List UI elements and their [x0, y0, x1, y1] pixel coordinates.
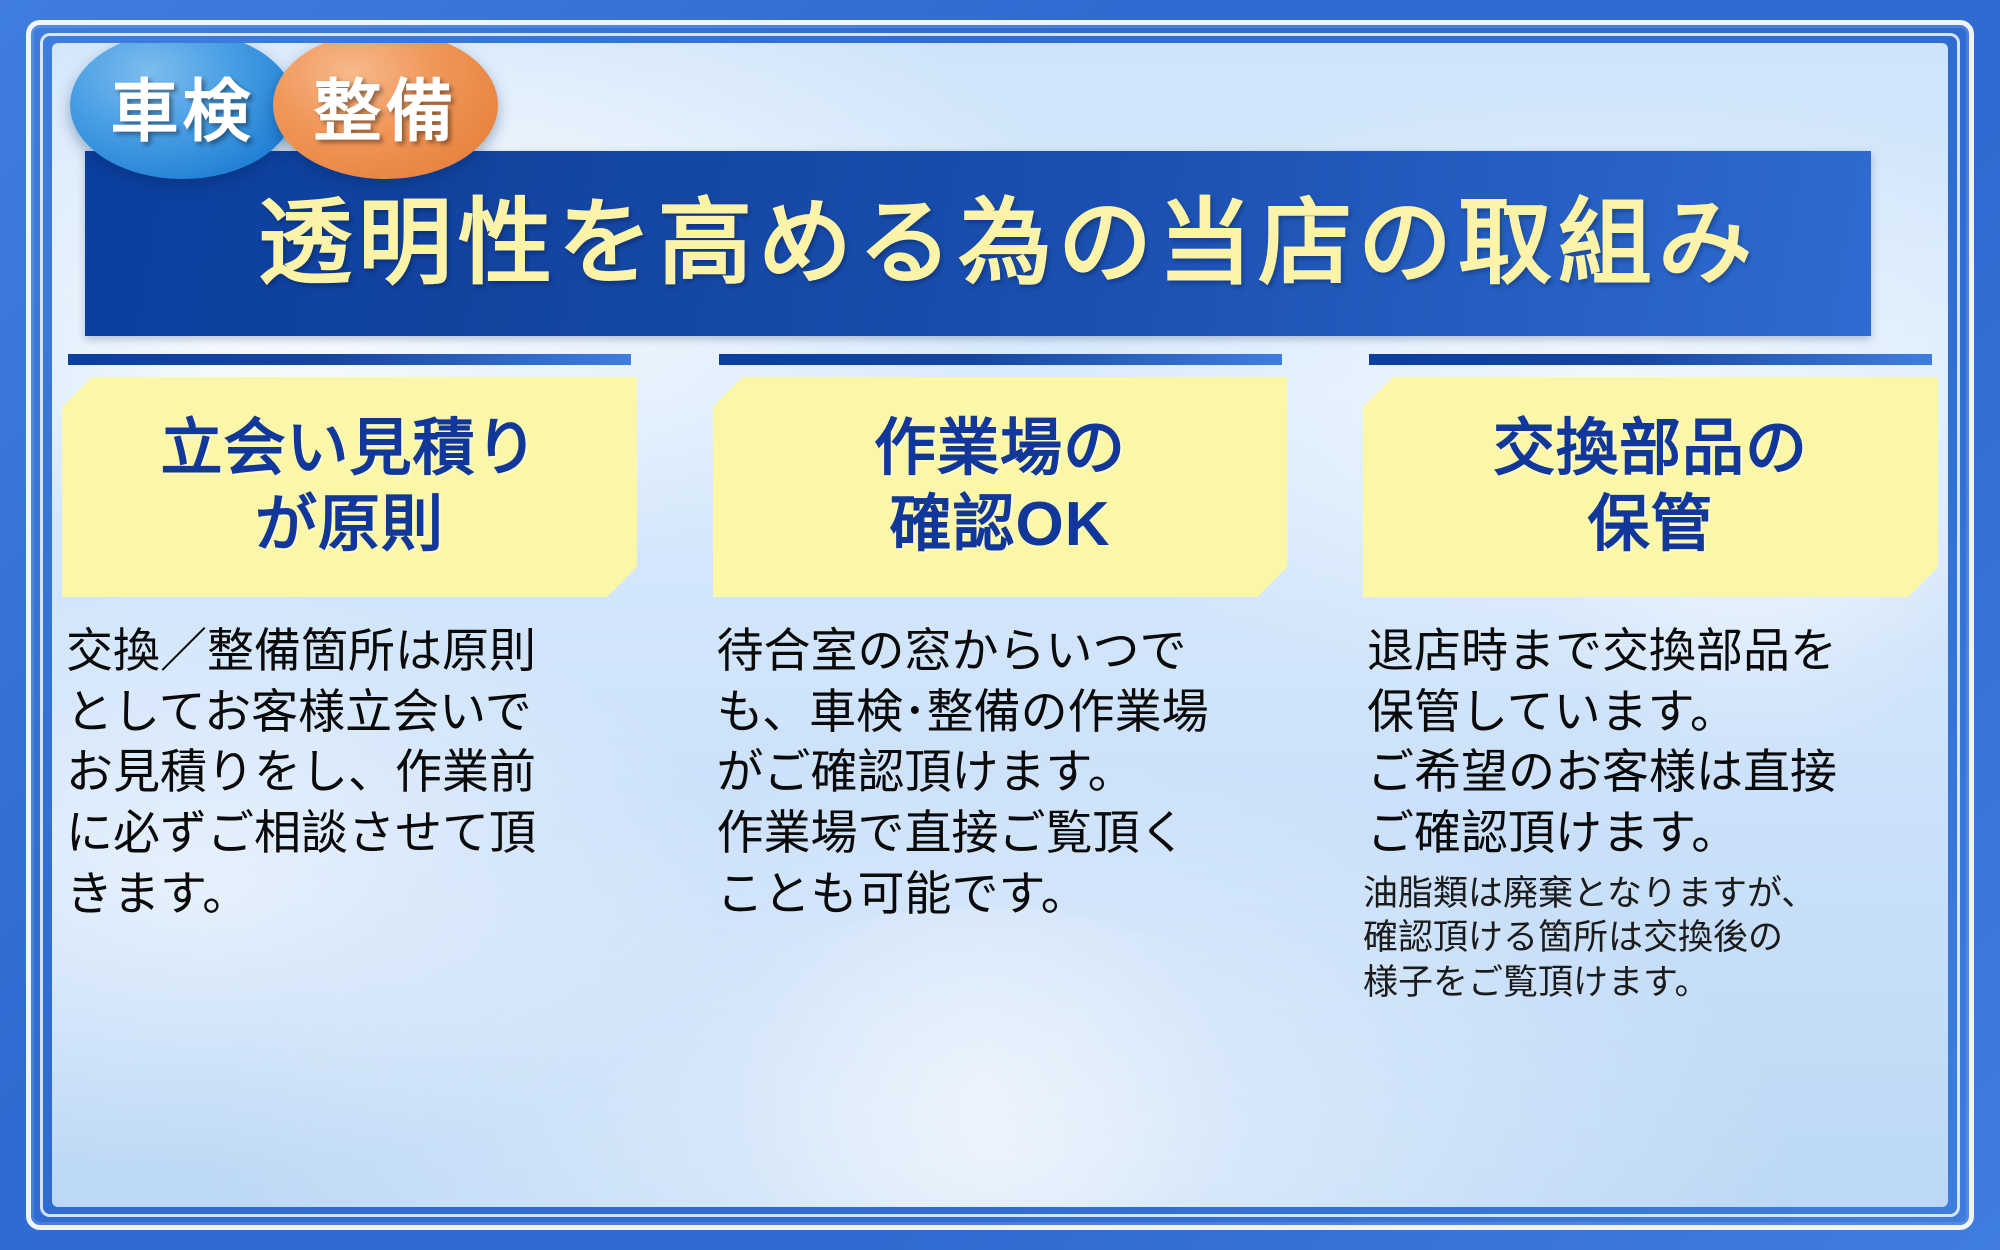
feature-heading-line: 作業場の: [874, 411, 1126, 487]
note-line: 油脂類は廃棄となりますが、: [1363, 872, 1938, 917]
feature-body-1: 交換／整備箇所は原則 としてお客様立会いで お見積りをし、作業前 に必ずご相談さ…: [62, 621, 637, 924]
feature-card-1: 立会い見積り が原則: [62, 377, 637, 597]
badge-group: 車検 整備: [70, 43, 498, 179]
body-line: がご確認頂けます。: [717, 742, 1286, 803]
body-line: としてお客様立会いで: [66, 682, 635, 743]
feature-column-3: 交換部品の 保管 退店時まで交換部品を 保管しています。 ご希望のお客様は直接 …: [1363, 343, 1938, 1207]
feature-body-3: 退店時まで交換部品を 保管しています。 ご希望のお客様は直接 ご確認頂けます。: [1363, 621, 1938, 864]
feature-heading-line: 確認OK: [889, 487, 1110, 563]
badge-seibi-label: 整備: [313, 56, 457, 155]
feature-heading-line: が原則: [255, 487, 444, 563]
feature-heading-line: 保管: [1587, 487, 1713, 563]
poster-root: 車検 整備 透明性を高める為の当店の取組み 立会い見積り が原則 交換／整備箇所…: [0, 0, 2000, 1250]
feature-card-2: 作業場の 確認OK: [713, 377, 1288, 597]
body-line: 保管しています。: [1367, 682, 1936, 743]
body-line: お見積りをし、作業前: [66, 742, 635, 803]
feature-card-3: 交換部品の 保管: [1363, 377, 1938, 597]
feature-heading-line: 交換部品の: [1493, 411, 1808, 487]
poster-canvas: 車検 整備 透明性を高める為の当店の取組み 立会い見積り が原則 交換／整備箇所…: [52, 43, 1948, 1207]
note-line: 様子をご覧頂けます。: [1363, 961, 1938, 1006]
page-title: 透明性を高める為の当店の取組み: [198, 197, 1758, 291]
body-line: ご希望のお客様は直接: [1367, 742, 1936, 803]
column-rule: [68, 354, 631, 365]
feature-heading-line: 立会い見積り: [160, 411, 538, 487]
body-line: に必ずご相談させて頂: [66, 803, 635, 864]
feature-body-2: 待合室の窓からいつで も、車検･整備の作業場 がご確認頂けます。 作業場で直接ご…: [713, 621, 1288, 924]
column-rule: [719, 354, 1282, 365]
column-rule: [1369, 354, 1932, 365]
body-line: 交換／整備箇所は原則: [66, 621, 635, 682]
badge-seibi: 整備: [273, 43, 498, 179]
feature-column-1: 立会い見積り が原則 交換／整備箇所は原則 としてお客様立会いで お見積りをし、…: [62, 343, 637, 1207]
feature-columns: 立会い見積り が原則 交換／整備箇所は原則 としてお客様立会いで お見積りをし、…: [52, 343, 1948, 1207]
body-line: ご確認頂けます。: [1367, 803, 1936, 864]
body-line: きます。: [66, 864, 635, 925]
feature-column-2: 作業場の 確認OK 待合室の窓からいつで も、車検･整備の作業場 がご確認頂けま…: [713, 343, 1288, 1207]
badge-shaken: 車検: [70, 43, 295, 179]
body-line: 待合室の窓からいつで: [717, 621, 1286, 682]
body-line: も、車検･整備の作業場: [717, 682, 1286, 743]
body-line: ことも可能です。: [717, 864, 1286, 925]
note-line: 確認頂ける箇所は交換後の: [1363, 916, 1938, 961]
body-line: 作業場で直接ご覧頂く: [717, 803, 1286, 864]
badge-shaken-label: 車検: [110, 56, 254, 155]
feature-note-3: 油脂類は廃棄となりますが、 確認頂ける箇所は交換後の 様子をご覧頂けます。: [1363, 872, 1938, 1006]
body-line: 退店時まで交換部品を: [1367, 621, 1936, 682]
